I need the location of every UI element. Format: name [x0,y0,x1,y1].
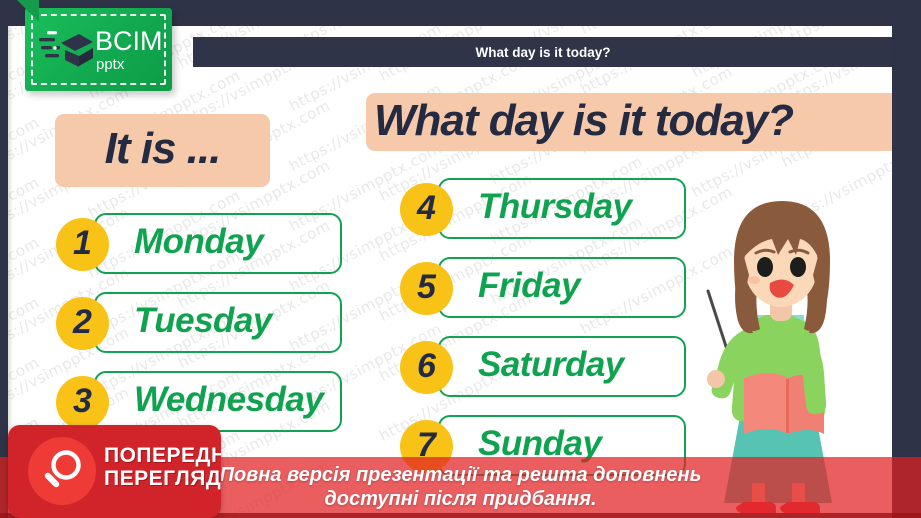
slide-header-bar: What day is it today? [193,37,892,67]
day-label: Monday [134,224,263,263]
day-label: Tuesday [134,303,272,342]
day-box[interactable]: Thursday [438,178,686,239]
magnifier-icon [39,448,85,494]
logo-title: BCIM [95,28,163,55]
list-item[interactable]: Friday 5 [400,257,700,320]
it-is-heading-text: It is ... [105,127,221,175]
bcim-logo[interactable]: BCIM pptx [25,8,172,91]
day-box[interactable]: Tuesday [94,292,342,353]
slide-header-title: What day is it today? [475,45,610,60]
preview-badge-line-2: ПЕРЕГЛЯД [104,468,221,491]
day-number-badge: 4 [400,183,453,236]
day-label: Wednesday [134,382,323,421]
day-box[interactable]: Wednesday [94,371,342,432]
it-is-heading-box: It is ... [55,114,270,187]
day-label: Thursday [478,189,632,228]
day-box[interactable]: Friday [438,257,686,318]
main-title-text: What day is it today? [374,99,793,146]
slide-canvas: https://vsimpptx.comhttps://vsimpptx.com… [0,0,921,518]
day-label: Saturday [478,347,624,386]
days-list-right: Thursday 4 Friday 5 Saturday 6 Sunday [400,178,700,494]
day-number-badge: 1 [56,218,109,271]
preview-badge: ПОПЕРЕДНІЙ ПЕРЕГЛЯД [8,425,221,518]
day-box[interactable]: Monday [94,213,342,274]
days-list-left: Monday 1 Tuesday 2 Wednesday 3 [56,213,356,450]
day-number-badge: 3 [56,376,109,429]
day-number-badge: 2 [56,297,109,350]
preview-badge-text: ПОПЕРЕДНІЙ ПЕРЕГЛЯД [104,445,221,490]
list-item[interactable]: Saturday 6 [400,336,700,399]
day-label: Friday [478,268,580,307]
day-number-badge: 6 [400,341,453,394]
main-title-box: What day is it today? [366,93,892,151]
list-item[interactable]: Monday 1 [56,213,356,276]
list-item[interactable]: Thursday 4 [400,178,700,241]
bottom-notice-line-2: доступні після придбання. [324,488,596,512]
graduation-cap-icon [39,25,93,75]
preview-badge-line-1: ПОПЕРЕДНІЙ [104,445,221,468]
day-number-badge: 5 [400,262,453,315]
logo-subtitle: pptx [96,57,163,72]
list-item[interactable]: Tuesday 2 [56,292,356,355]
right-border [892,0,921,518]
bottom-notice-line-1: Повна версія презентації та решта доповн… [220,464,702,488]
day-box[interactable]: Saturday [438,336,686,397]
